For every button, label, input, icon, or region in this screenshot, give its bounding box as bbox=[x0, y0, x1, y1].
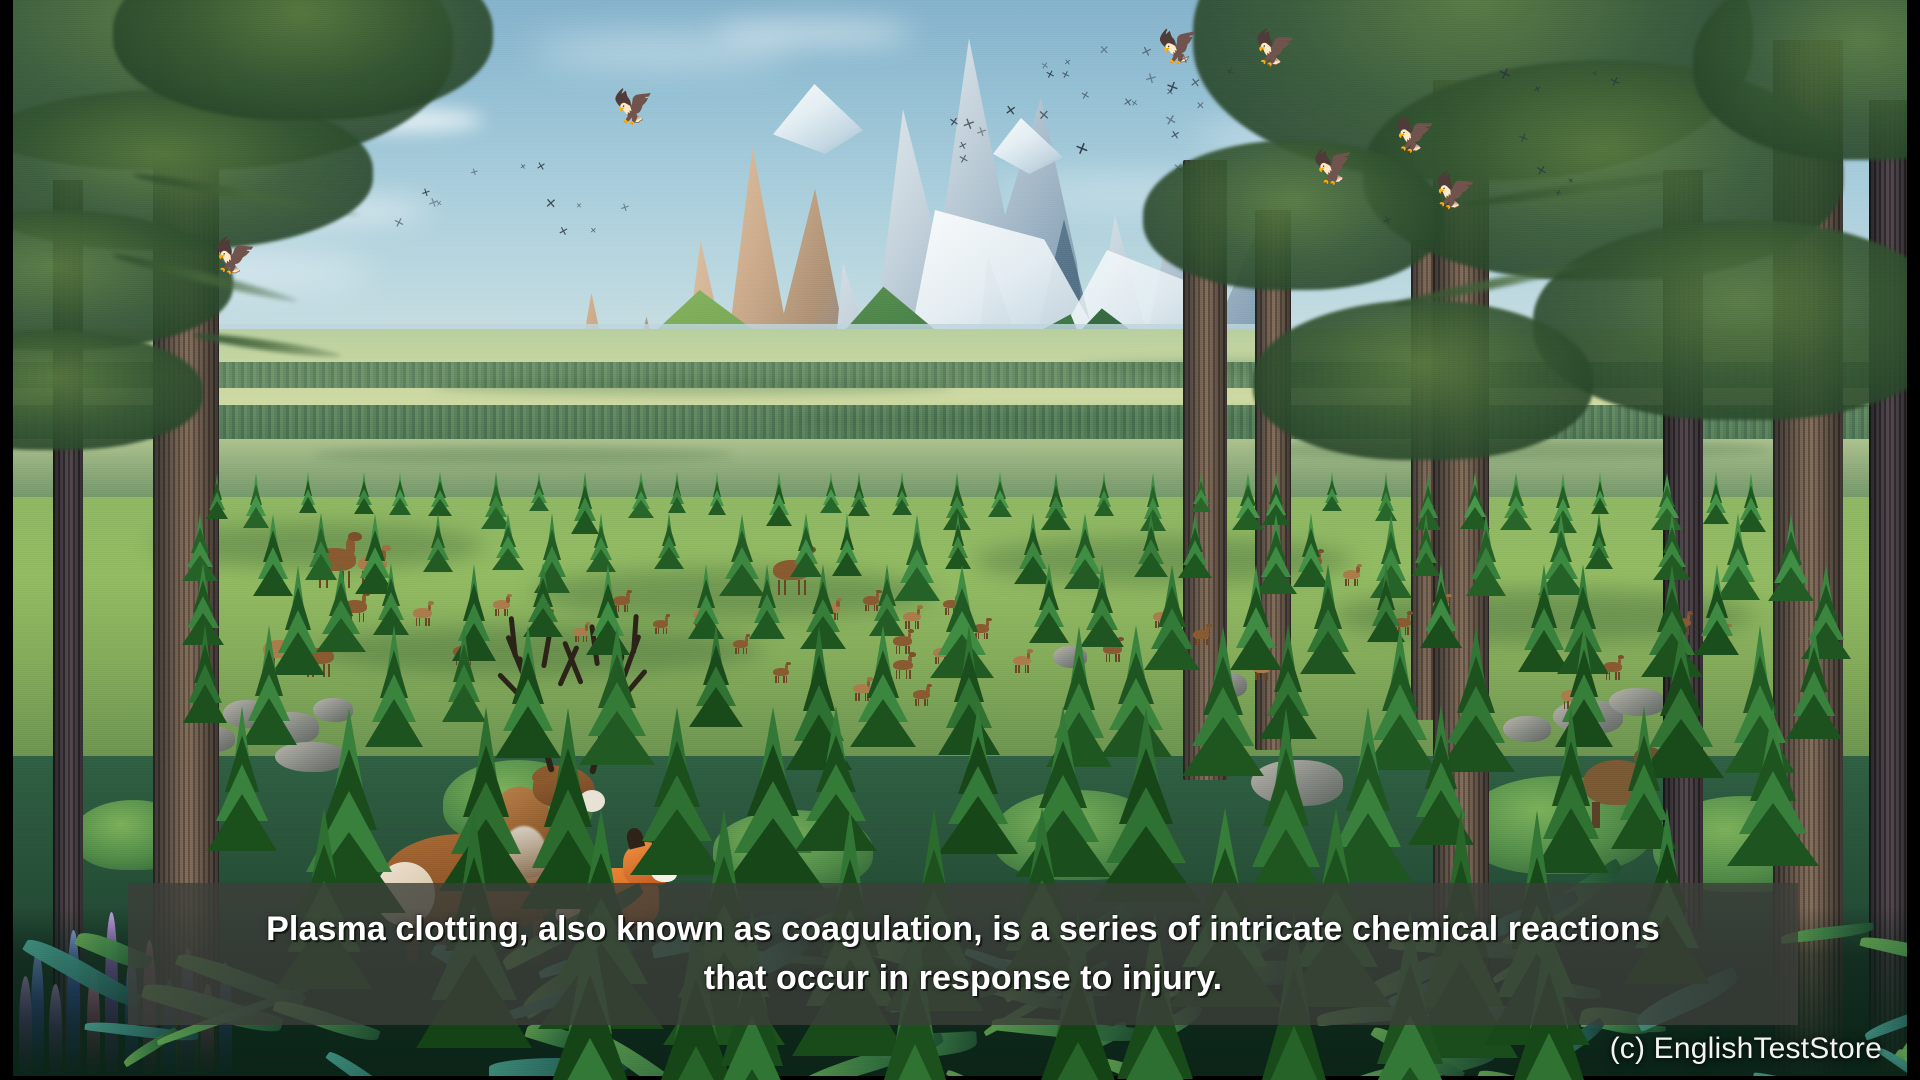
bird-raptor: 🦅 bbox=[1392, 117, 1437, 154]
bird-small: ✕ bbox=[948, 115, 960, 129]
bird-raptor: 🦅 bbox=[1311, 148, 1357, 186]
conifer-tree bbox=[427, 470, 451, 516]
deer bbox=[493, 600, 517, 618]
screenshot-root: 🦅🦅🦅🦅🦅🦅🦅✕✕✕✕✕✕✕✕✕✕✕✕✕✕✕✕✕✕✕✕✕✕✕✕✕✕✕✕✕✕✕✕✕… bbox=[0, 0, 1920, 1080]
bird-raptor: 🦅 bbox=[612, 89, 657, 126]
bird-small: ✕ bbox=[1196, 102, 1205, 112]
letterbox-left bbox=[0, 0, 13, 1080]
bird-small: ✕ bbox=[1568, 178, 1575, 186]
bird-small: ✕ bbox=[1038, 108, 1051, 123]
conifer-tree bbox=[987, 470, 1012, 517]
caption-line-1: Plasma clotting, also known as coagulati… bbox=[266, 910, 1660, 949]
conifer-tree bbox=[820, 470, 843, 513]
deer bbox=[653, 620, 675, 636]
conifer-tree bbox=[1727, 700, 1819, 866]
conifer-tree bbox=[654, 510, 684, 569]
bird-small: ✕ bbox=[519, 163, 526, 171]
conifer-tree bbox=[1191, 470, 1213, 512]
bird-small: ✕ bbox=[1166, 87, 1174, 97]
conifer-tree bbox=[667, 470, 686, 513]
bird-small: ✕ bbox=[1040, 61, 1049, 72]
conifer-tree bbox=[422, 510, 453, 572]
bird-raptor: 🦅 bbox=[211, 237, 258, 277]
deer bbox=[1013, 656, 1038, 675]
bird-small: ✕ bbox=[1173, 162, 1184, 175]
bird-small: ✕ bbox=[1004, 103, 1017, 118]
letterbox-right bbox=[1907, 0, 1920, 1080]
conifer-tree bbox=[749, 560, 785, 639]
conifer-tree bbox=[389, 470, 412, 515]
bird-small: ✕ bbox=[590, 227, 597, 235]
bird-small: ✕ bbox=[576, 202, 582, 209]
bird-small: ✕ bbox=[1099, 44, 1110, 57]
bird-raptor: 🦅 bbox=[1251, 30, 1297, 68]
conifer-tree bbox=[528, 470, 550, 511]
watermark: (c) EnglishTestStore bbox=[1610, 1032, 1882, 1066]
caption-box: Plasma clotting, also known as coagulati… bbox=[128, 883, 1798, 1025]
bird-small: ✕ bbox=[1189, 76, 1201, 90]
conifer-tree bbox=[892, 470, 912, 515]
bird-small: ✕ bbox=[545, 197, 557, 211]
conifer-tree bbox=[299, 470, 318, 513]
conifer-tree bbox=[707, 470, 727, 515]
conifer-tree bbox=[1466, 510, 1506, 596]
conifer-tree bbox=[1590, 470, 1610, 514]
conifer-tree bbox=[315, 560, 366, 652]
conifer-tree bbox=[628, 470, 654, 518]
bird-small: ✕ bbox=[1063, 59, 1071, 68]
bird-small: ✕ bbox=[435, 199, 443, 208]
caption-line-2: that occur in response to injury. bbox=[704, 959, 1222, 998]
conifer-tree bbox=[765, 470, 793, 526]
bird-small: ✕ bbox=[1130, 98, 1138, 108]
bird-raptor: 🦅 bbox=[1430, 172, 1478, 213]
conifer-tree bbox=[1322, 470, 1342, 511]
conifer-tree bbox=[206, 700, 278, 851]
conifer-tree bbox=[354, 470, 376, 514]
